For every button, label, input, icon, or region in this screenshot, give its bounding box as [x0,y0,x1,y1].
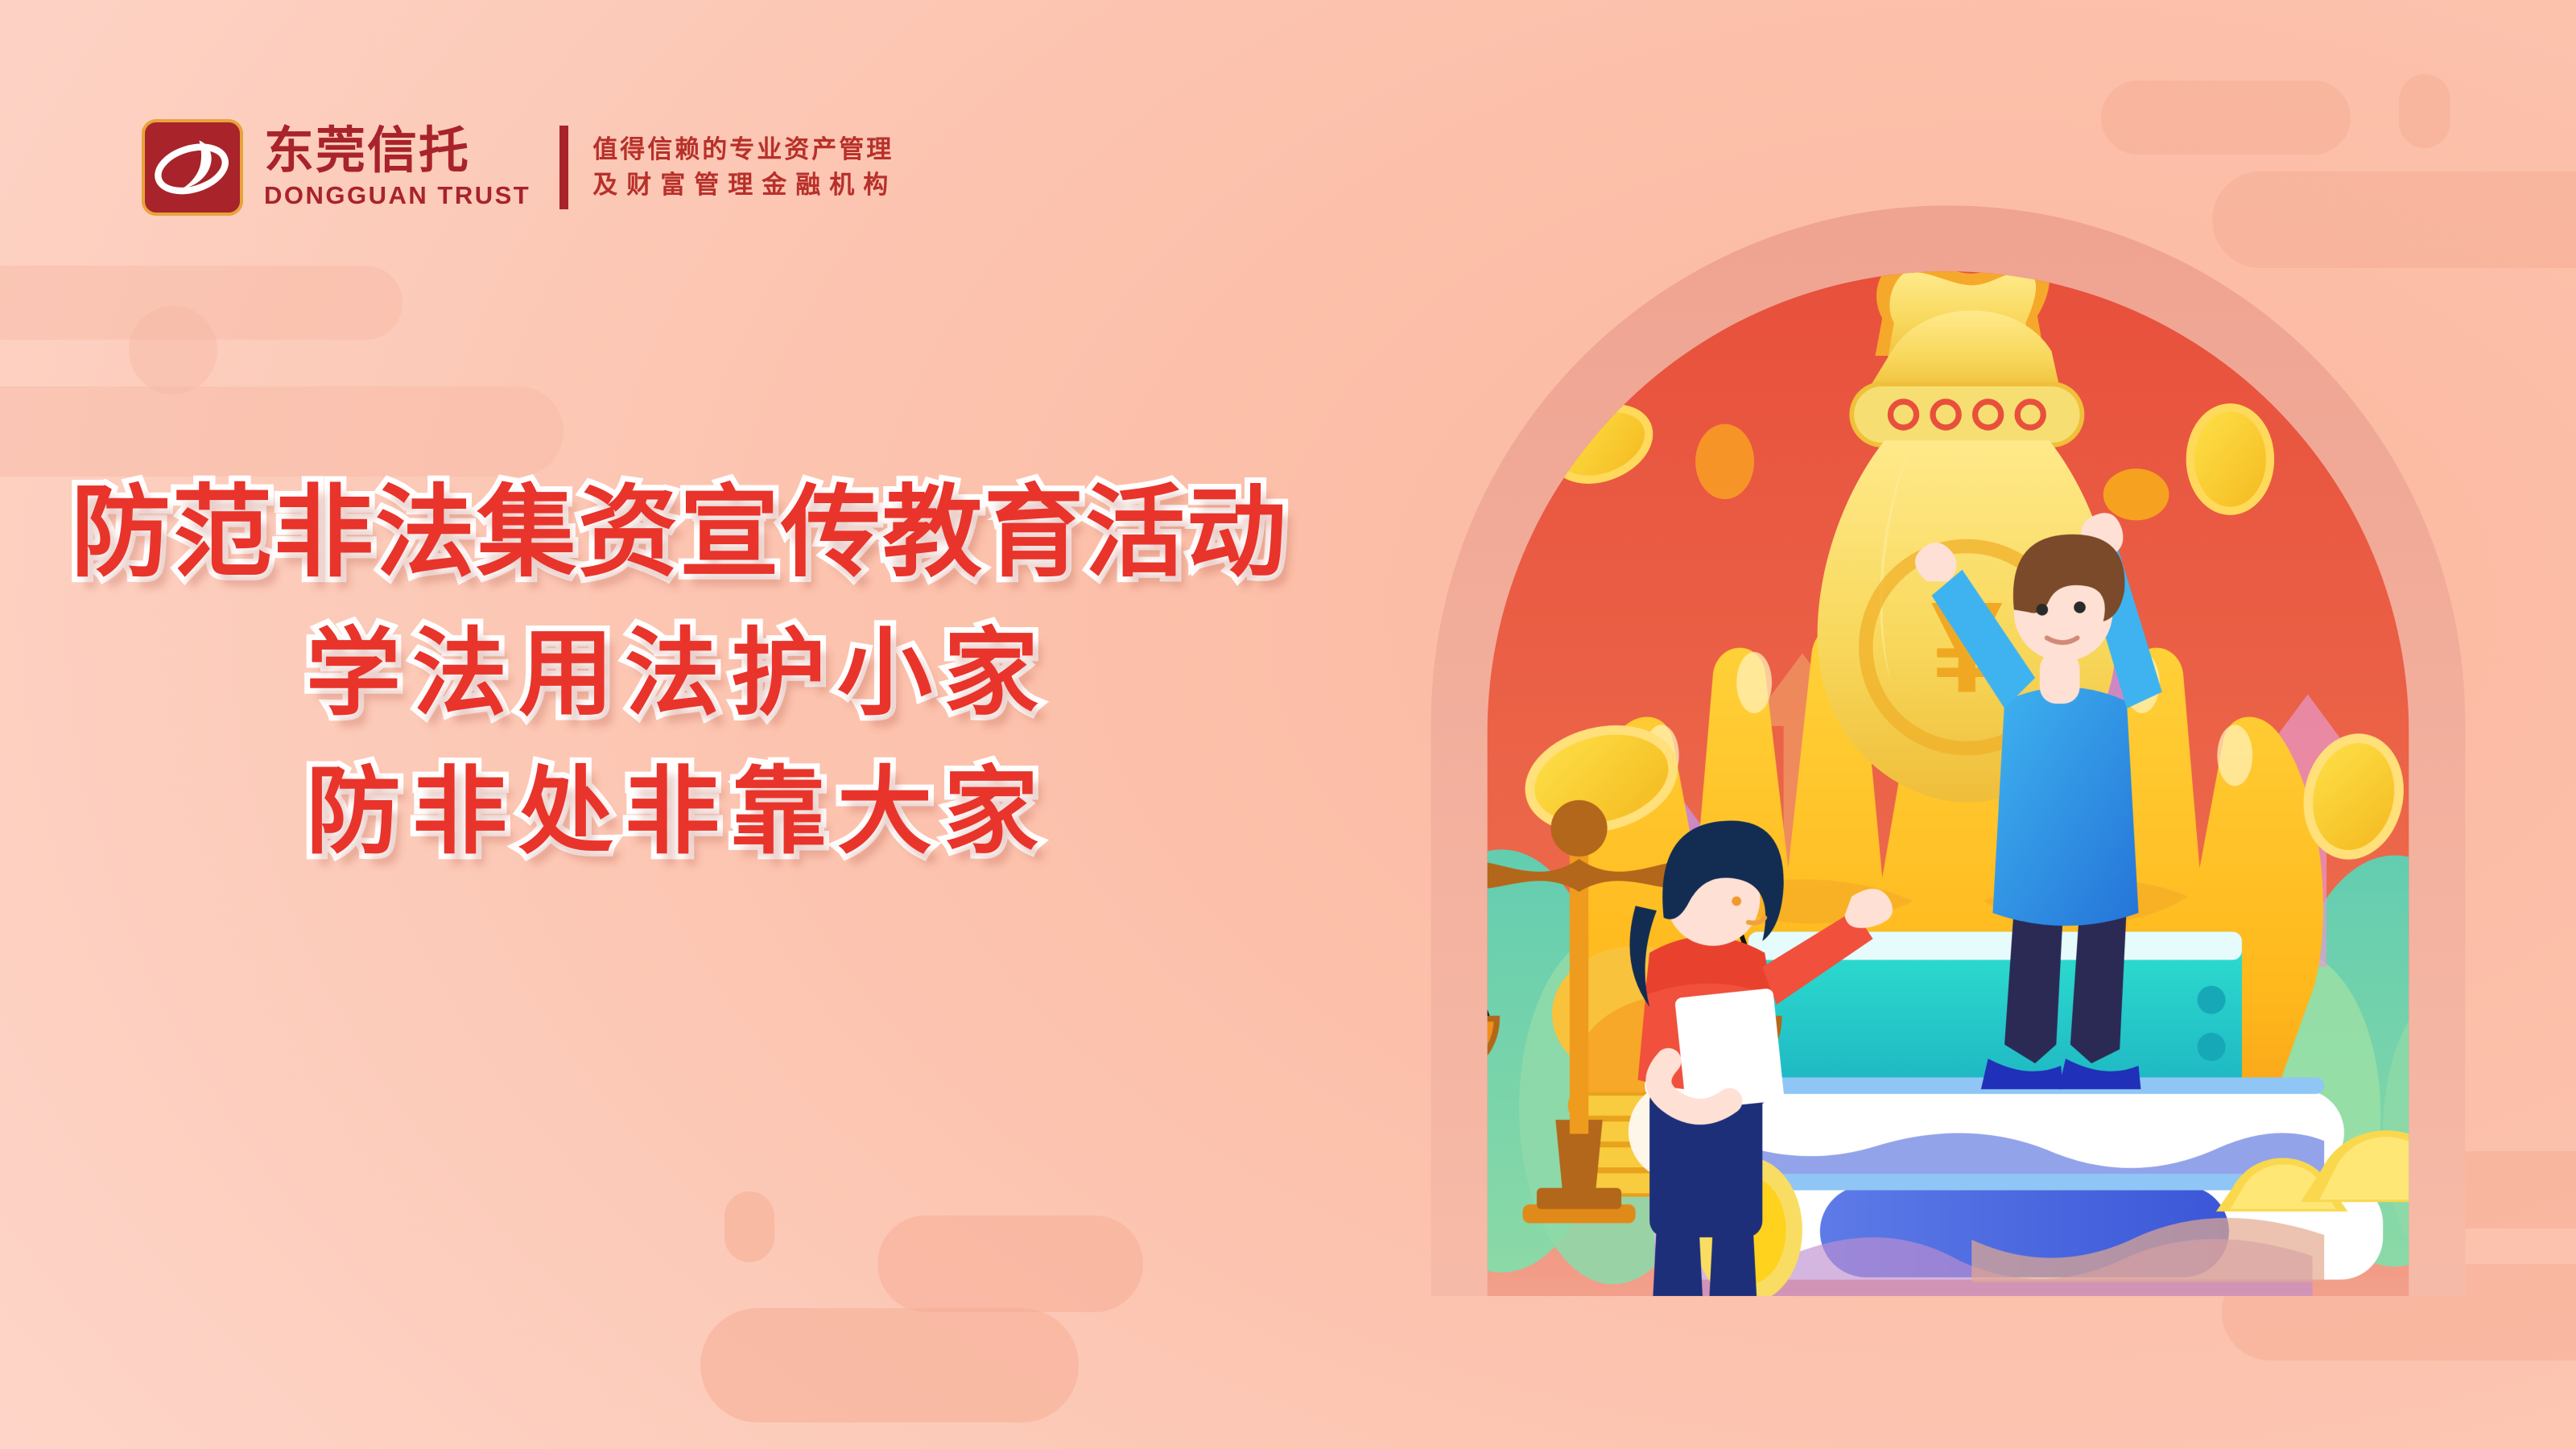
headline-group: 防范非法集资宣传教育活动 学法用法护小家 防非处非靠大家 [0,483,1368,860]
promotional-banner: 东莞信托 DONGGUAN TRUST 值得信赖的专业资产管理 及财富管理金融机… [0,0,2576,1449]
headline-line-3: 防非处非靠大家 [306,765,1368,860]
brand-name-cn: 东莞信托 [264,125,530,177]
decor-pill [129,306,217,394]
brand-name-en: DONGGUAN TRUST [264,181,530,210]
tagline-line-2: 及财富管理金融机构 [592,171,897,199]
dongguan-trust-swoosh-logo-icon [142,119,243,216]
brand-tagline: 值得信赖的专业资产管理 及财富管理金融机构 [592,136,897,199]
brand-wordmark: 东莞信托 DONGGUAN TRUST [264,125,530,209]
headline-line-1: 防范非法集资宣传教育活动 [71,483,1368,583]
decor-pill [700,1308,1079,1422]
decor-pill [0,386,563,477]
decor-pill [724,1191,774,1262]
brand-lockup: 东莞信托 DONGGUAN TRUST 值得信赖的专业资产管理 及财富管理金融机… [142,119,897,216]
headline-line-2: 学法用法护小家 [306,626,1368,721]
tagline-line-1: 值得信赖的专业资产管理 [592,136,897,163]
brand-divider [559,126,568,209]
decor-pill [877,1216,1143,1312]
anti-illegal-fundraising-illustration: ¥ [1360,121,2536,1296]
